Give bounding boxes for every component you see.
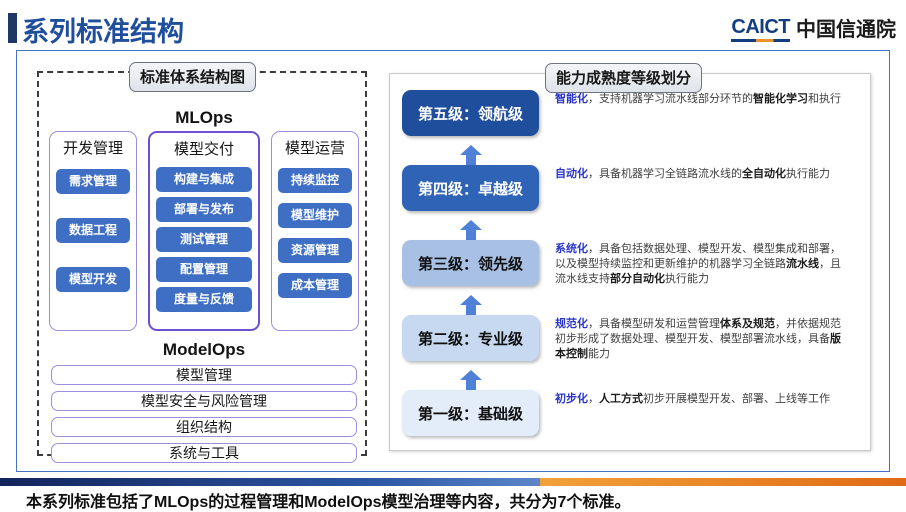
slide-header: 系列标准结构 CAICT 中国信通院 [0, 0, 906, 52]
chip-item[interactable]: 度量与反馈 [156, 287, 252, 312]
mlops-column-development: 开发管理 需求管理 数据工程 模型开发 [49, 131, 137, 331]
chip-item[interactable]: 需求管理 [56, 169, 130, 194]
maturity-levels-badge: 能力成熟度等级划分 [545, 63, 702, 93]
logo-abbreviation: CAICT [731, 16, 790, 42]
slide-body-frame: MLOps 开发管理 需求管理 数据工程 模型开发 模型交付 构建与集成 部署与… [16, 50, 890, 472]
mlops-column-delivery: 模型交付 构建与集成 部署与发布 测试管理 配置管理 度量与反馈 [148, 131, 260, 331]
slide-root: 系列标准结构 CAICT 中国信通院 MLOps 开发管理 需求管理 数据工程 … [0, 0, 906, 512]
modelops-row[interactable]: 组织结构 [51, 417, 357, 437]
caict-logo: CAICT 中国信通院 [731, 16, 896, 42]
maturity-level-row-3: 第三级：领先级 系统化，具备包括数据处理、模型开发、模型集成和部署，以及模型持续… [402, 240, 862, 287]
level-box-4[interactable]: 第四级：卓越级 [402, 165, 539, 211]
modelops-heading: ModelOps [39, 340, 369, 360]
footer-color-bars [0, 478, 906, 486]
title-accent-bar [8, 13, 17, 43]
level-description-4: 自动化，具备机器学习全链路流水线的全自动化执行能力 [555, 165, 845, 182]
footer-summary-text: 本系列标准包括了MLOps的过程管理和ModelOps模型治理等内容，共分为7个… [26, 488, 630, 512]
chip-item[interactable]: 模型开发 [56, 267, 130, 292]
chip-item[interactable]: 资源管理 [278, 238, 352, 263]
maturity-level-row-4: 第四级：卓越级 自动化，具备机器学习全链路流水线的全自动化执行能力 [402, 165, 862, 211]
page-title: 系列标准结构 [22, 10, 184, 49]
footer-bar-blue [0, 478, 540, 486]
modelops-row[interactable]: 模型安全与风险管理 [51, 391, 357, 411]
level-box-2[interactable]: 第二级：专业级 [402, 315, 539, 361]
column-title: 模型交付 [150, 133, 258, 162]
standards-structure-badge: 标准体系结构图 [129, 62, 256, 92]
mlops-column-operations: 模型运营 持续监控 模型维护 资源管理 成本管理 [271, 131, 359, 331]
level-box-1[interactable]: 第一级：基础级 [402, 390, 539, 436]
level-box-5[interactable]: 第五级：领航级 [402, 90, 539, 136]
modelops-row-list: 模型管理 模型安全与风险管理 组织结构 系统与工具 [51, 365, 357, 463]
maturity-level-row-2: 第二级：专业级 规范化，具备模型研发和运营管理体系及规范，并依据规范初步形成了数… [402, 315, 862, 362]
maturity-level-row-1: 第一级：基础级 初步化，人工方式初步开展模型开发、部署、上线等工作 [402, 390, 862, 436]
column-title: 开发管理 [50, 132, 136, 161]
column-title: 模型运营 [272, 132, 358, 161]
level-description-2: 规范化，具备模型研发和运营管理体系及规范，并依据规范初步形成了数据处理、模型开发… [555, 315, 845, 362]
chip-item[interactable]: 部署与发布 [156, 197, 252, 222]
maturity-level-row-5: 第五级：领航级 智能化，支持机器学习流水线部分环节的智能化学习和执行 [402, 90, 862, 136]
maturity-levels-panel: 第五级：领航级 智能化，支持机器学习流水线部分环节的智能化学习和执行 第四级：卓… [389, 73, 871, 451]
modelops-row[interactable]: 系统与工具 [51, 443, 357, 463]
chip-list: 持续监控 模型维护 资源管理 成本管理 [272, 168, 358, 298]
mlops-heading: MLOps [39, 108, 369, 128]
chip-item[interactable]: 持续监控 [278, 168, 352, 193]
standards-structure-panel: MLOps 开发管理 需求管理 数据工程 模型开发 模型交付 构建与集成 部署与… [37, 71, 367, 456]
level-description-3: 系统化，具备包括数据处理、模型开发、模型集成和部署，以及模型持续监控和更新维护的… [555, 240, 845, 287]
chip-item[interactable]: 数据工程 [56, 218, 130, 243]
chip-item[interactable]: 构建与集成 [156, 167, 252, 192]
chip-item[interactable]: 配置管理 [156, 257, 252, 282]
chip-item[interactable]: 成本管理 [278, 273, 352, 298]
footer-bar-orange [540, 478, 906, 486]
modelops-row[interactable]: 模型管理 [51, 365, 357, 385]
level-box-3[interactable]: 第三级：领先级 [402, 240, 539, 286]
chip-item[interactable]: 测试管理 [156, 227, 252, 252]
chip-list: 需求管理 数据工程 模型开发 [50, 169, 136, 292]
chip-item[interactable]: 模型维护 [278, 203, 352, 228]
level-description-1: 初步化，人工方式初步开展模型开发、部署、上线等工作 [555, 390, 845, 407]
logo-chinese-name: 中国信通院 [796, 20, 896, 42]
chip-list: 构建与集成 部署与发布 测试管理 配置管理 度量与反馈 [150, 167, 258, 312]
